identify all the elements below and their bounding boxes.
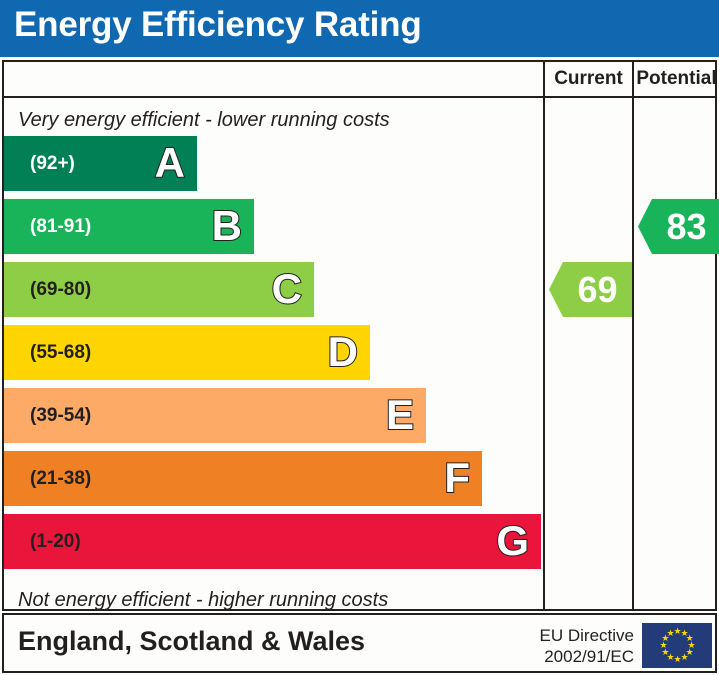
- band-letter-label: B: [212, 205, 242, 247]
- eu-flag-star: ★: [661, 649, 668, 656]
- band-range-label: (69-80): [30, 279, 91, 301]
- chart-footer: England, Scotland & Wales EU Directive 2…: [2, 613, 717, 673]
- page-title: Energy Efficiency Rating: [14, 5, 422, 45]
- table-column-headers: Current Potential: [4, 62, 715, 98]
- footer-directive: EU Directive 2002/91/EC: [524, 625, 634, 668]
- band-letter-label: E: [386, 394, 414, 436]
- chart-header-banner: Energy Efficiency Rating: [0, 0, 719, 57]
- rating-value-potential: 83: [652, 209, 706, 245]
- band-range-label: (55-68): [30, 342, 91, 364]
- rating-band-d: (55-68)D: [4, 325, 370, 380]
- rating-band-g: (1-20)G: [4, 514, 541, 569]
- band-letter-label: A: [155, 142, 185, 184]
- column-header-current: Current: [543, 62, 632, 96]
- band-letter-label: D: [328, 331, 358, 373]
- eu-flag-icon: ★★★★★★★★★★★★: [642, 623, 712, 668]
- band-range-label: (39-54): [30, 405, 91, 427]
- band-range-label: (81-91): [30, 216, 91, 238]
- rating-value-current: 69: [563, 272, 617, 308]
- eu-flag-star: ★: [667, 630, 674, 637]
- eu-flag-star: ★: [660, 642, 667, 649]
- band-range-label: (1-20): [30, 531, 81, 553]
- rating-band-c: (69-80)C: [4, 262, 314, 317]
- rating-arrow-current: 69: [549, 262, 632, 317]
- rating-band-a: (92+)A: [4, 136, 197, 191]
- column-divider-current: [543, 98, 545, 611]
- rating-band-f: (21-38)F: [4, 451, 482, 506]
- band-letter-label: C: [272, 268, 302, 310]
- caption-inefficient: Not energy efficient - higher running co…: [18, 589, 388, 612]
- caption-efficient: Very energy efficient - lower running co…: [18, 109, 390, 132]
- directive-line-1: EU Directive: [524, 625, 634, 646]
- band-letter-label: G: [496, 520, 529, 562]
- band-letter-label: F: [444, 457, 470, 499]
- rating-arrow-potential: 83: [638, 199, 719, 254]
- band-range-label: (92+): [30, 153, 75, 175]
- energy-efficiency-rating-chart: Energy Efficiency Rating Current Potenti…: [0, 0, 719, 675]
- rating-band-e: (39-54)E: [4, 388, 426, 443]
- rating-band-b: (81-91)B: [4, 199, 254, 254]
- footer-region-label: England, Scotland & Wales: [18, 626, 365, 657]
- rating-table: Current Potential Very energy efficient …: [2, 60, 717, 611]
- column-header-potential: Potential: [632, 62, 719, 96]
- rating-bands: (92+)A(81-91)B(69-80)C(55-68)D(39-54)E(2…: [4, 136, 541, 581]
- band-range-label: (21-38): [30, 468, 91, 490]
- column-divider-potential: [632, 98, 634, 611]
- directive-line-2: 2002/91/EC: [524, 646, 634, 667]
